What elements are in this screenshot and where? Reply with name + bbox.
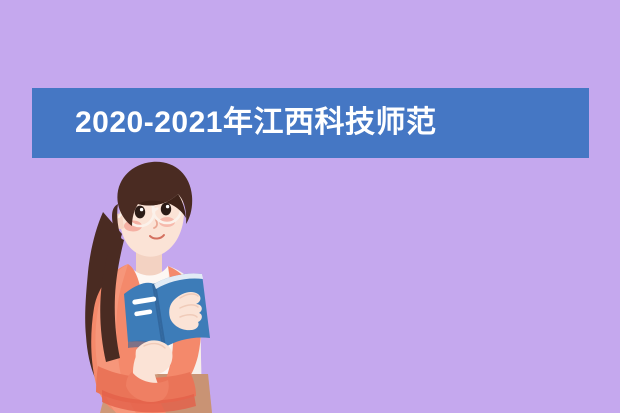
eye-right [161,203,171,216]
woman-reading-illustration [40,160,220,413]
woman-reading-graphic [40,160,220,413]
title-banner: 2020-2021年江西科技师范 [32,88,589,158]
eye-right-glint [166,205,169,208]
eye-left-glint [140,208,143,211]
page-title: 2020-2021年江西科技师范 [75,108,436,138]
eye-left [135,206,145,219]
page-canvas: 2020-2021年江西科技师范 [0,0,620,413]
